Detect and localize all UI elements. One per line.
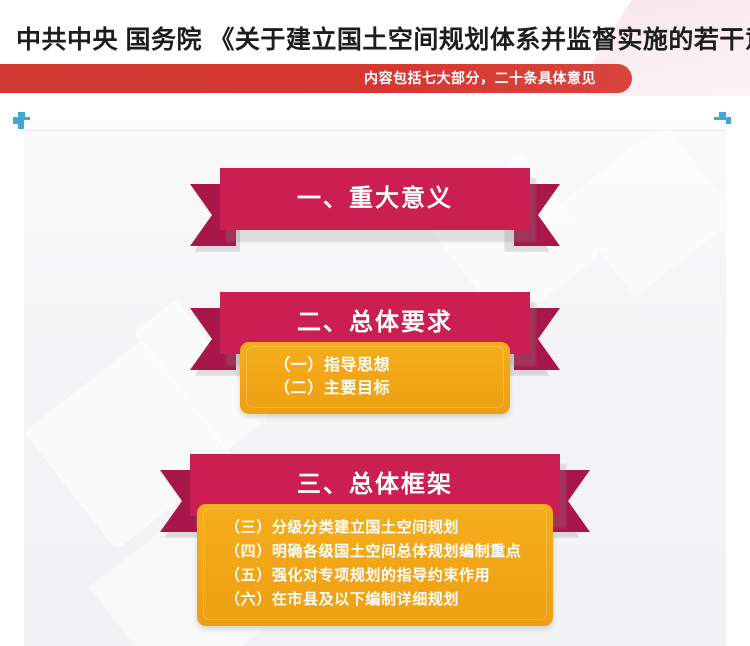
panel-top-divider (24, 120, 726, 131)
list-item-label: 主要目标 (324, 380, 390, 397)
header: 中共中央 国务院 《关于建立国土空间规划体系并监督实施的若干意见》 内容包括七大… (0, 0, 750, 96)
section-overall-requirements: 二、总体要求 （一）指导思想 （二）主要目标 (24, 292, 726, 414)
list-item: （三）分级分类建立国土空间规划 (225, 516, 553, 540)
list-item-label: 指导思想 (324, 357, 390, 374)
list-item-index: （二） (274, 377, 324, 400)
list-item: （四）明确各级国土空间总体规划编制重点 (225, 540, 553, 564)
section-heading: 一、重大意义 (220, 168, 530, 230)
list-item-index: （四） (225, 540, 272, 564)
list-item: （六）在市县及以下编制详细规划 (225, 588, 553, 612)
section-items-box: （一）指导思想 （二）主要目标 (240, 342, 510, 414)
section-items-wrapper: （一）指导思想 （二）主要目标 (24, 342, 726, 414)
section-items-wrapper: （三）分级分类建立国土空间规划 （四）明确各级国土空间总体规划编制重点 （五）强… (24, 504, 726, 626)
list-item-index: （五） (225, 564, 272, 588)
list-item-label: 分级分类建立国土空间规划 (272, 519, 459, 536)
list-item-index: （六） (225, 588, 272, 612)
section-major-significance: 一、重大意义 (24, 168, 726, 232)
section-overall-framework: 三、总体框架 （三）分级分类建立国土空间规划 （四）明确各级国土空间总体规划编制… (24, 454, 726, 626)
section-items-list: （三）分级分类建立国土空间规划 （四）明确各级国土空间总体规划编制重点 （五）强… (197, 516, 553, 612)
infographic-page: 中共中央 国务院 《关于建立国土空间规划体系并监督实施的若干意见》 内容包括七大… (0, 0, 750, 646)
list-item: （五）强化对专项规划的指导约束作用 (225, 564, 553, 588)
list-item-label: 强化对专项规划的指导约束作用 (272, 567, 490, 584)
section-items-box: （三）分级分类建立国土空间规划 （四）明确各级国土空间总体规划编制重点 （五）强… (197, 504, 553, 626)
list-item-index: （一） (274, 354, 324, 377)
section-ribbon: 一、重大意义 (190, 168, 560, 232)
page-title: 中共中央 国务院 《关于建立国土空间规划体系并监督实施的若干意见》 (16, 20, 750, 56)
list-item-label: 明确各级国土空间总体规划编制重点 (272, 543, 522, 560)
list-item-label: 在市县及以下编制详细规划 (272, 591, 459, 608)
list-item: （二）主要目标 (274, 377, 510, 400)
content-panel: 一、重大意义 二、总体要求 （一）指导思想 (24, 120, 726, 646)
list-item: （一）指导思想 (274, 354, 510, 377)
list-item-index: （三） (225, 516, 272, 540)
subtitle-text: 内容包括七大部分，二十条具体意见 (364, 64, 596, 93)
subtitle-banner: 内容包括七大部分，二十条具体意见 (0, 64, 632, 93)
section-items-list: （一）指导思想 （二）主要目标 (240, 354, 510, 400)
ribbon-band: 一、重大意义 (220, 168, 530, 230)
